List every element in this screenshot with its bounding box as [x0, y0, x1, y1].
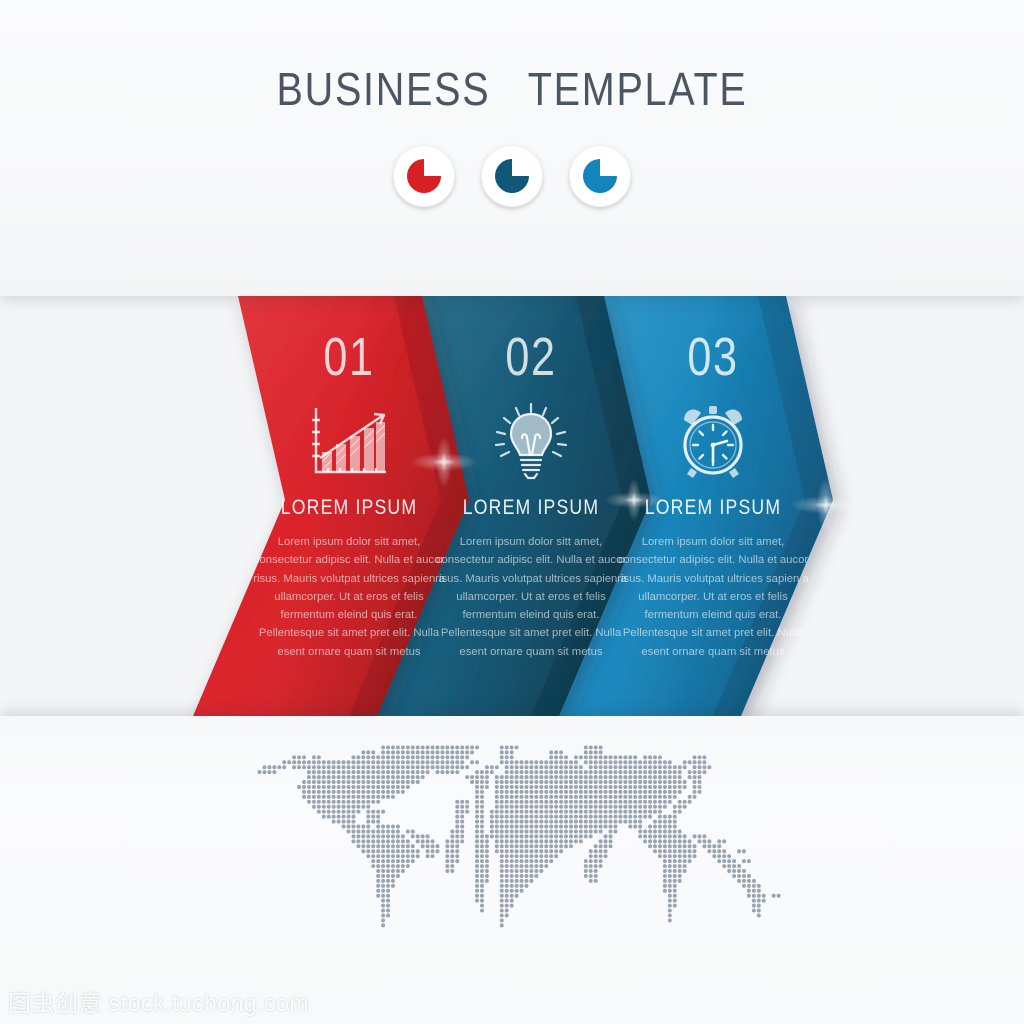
pie-chart-lightblue-icon: [579, 155, 621, 197]
pie-chart-red-icon: [403, 155, 445, 197]
pie-chart-darkblue-badge: [481, 145, 543, 207]
pie-chart-lightblue-badge: [569, 145, 631, 207]
pie-icon-row: [0, 145, 1024, 207]
dotted-world-map: [244, 740, 804, 1002]
pie-chart-darkblue-icon: [491, 155, 533, 197]
page-title: BUSINESS TEMPLATE: [72, 62, 953, 116]
watermark: 图虫创意 stock.tuchong.com: [8, 984, 309, 1018]
pie-chart-red-badge: [393, 145, 455, 207]
infographic-canvas: BUSINESS TEMPLATE 01: [0, 0, 1024, 1024]
